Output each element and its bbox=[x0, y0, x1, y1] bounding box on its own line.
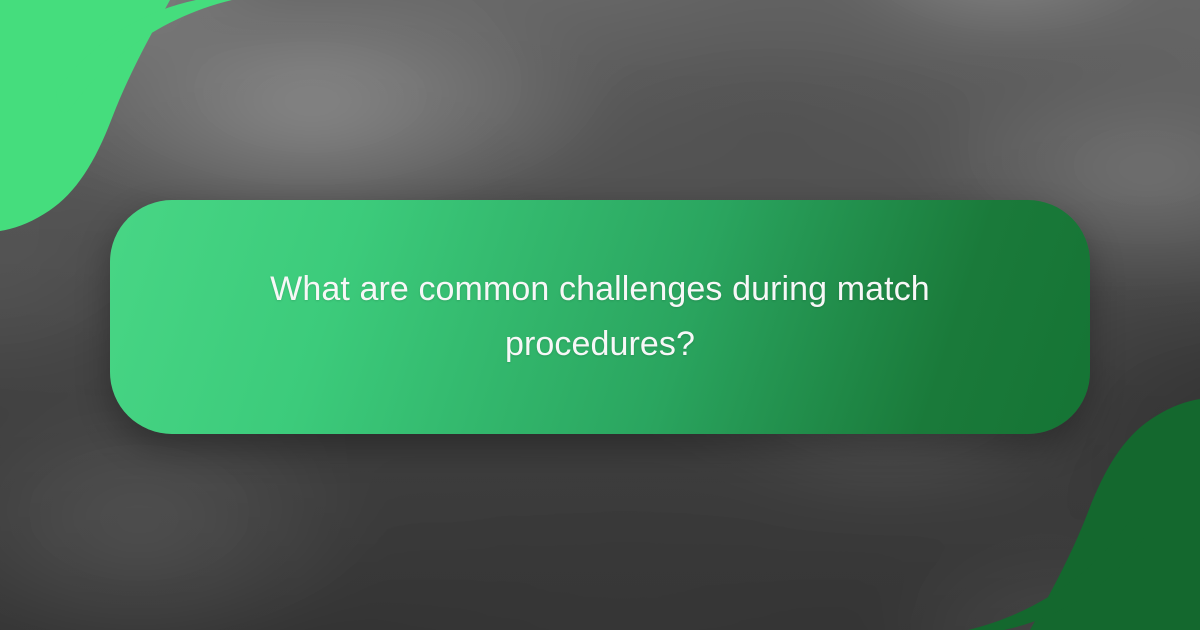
question-card: What are common challenges during match … bbox=[110, 200, 1090, 434]
question-text: What are common challenges during match … bbox=[218, 262, 982, 372]
question-card-graphic: What are common challenges during match … bbox=[0, 0, 1200, 630]
